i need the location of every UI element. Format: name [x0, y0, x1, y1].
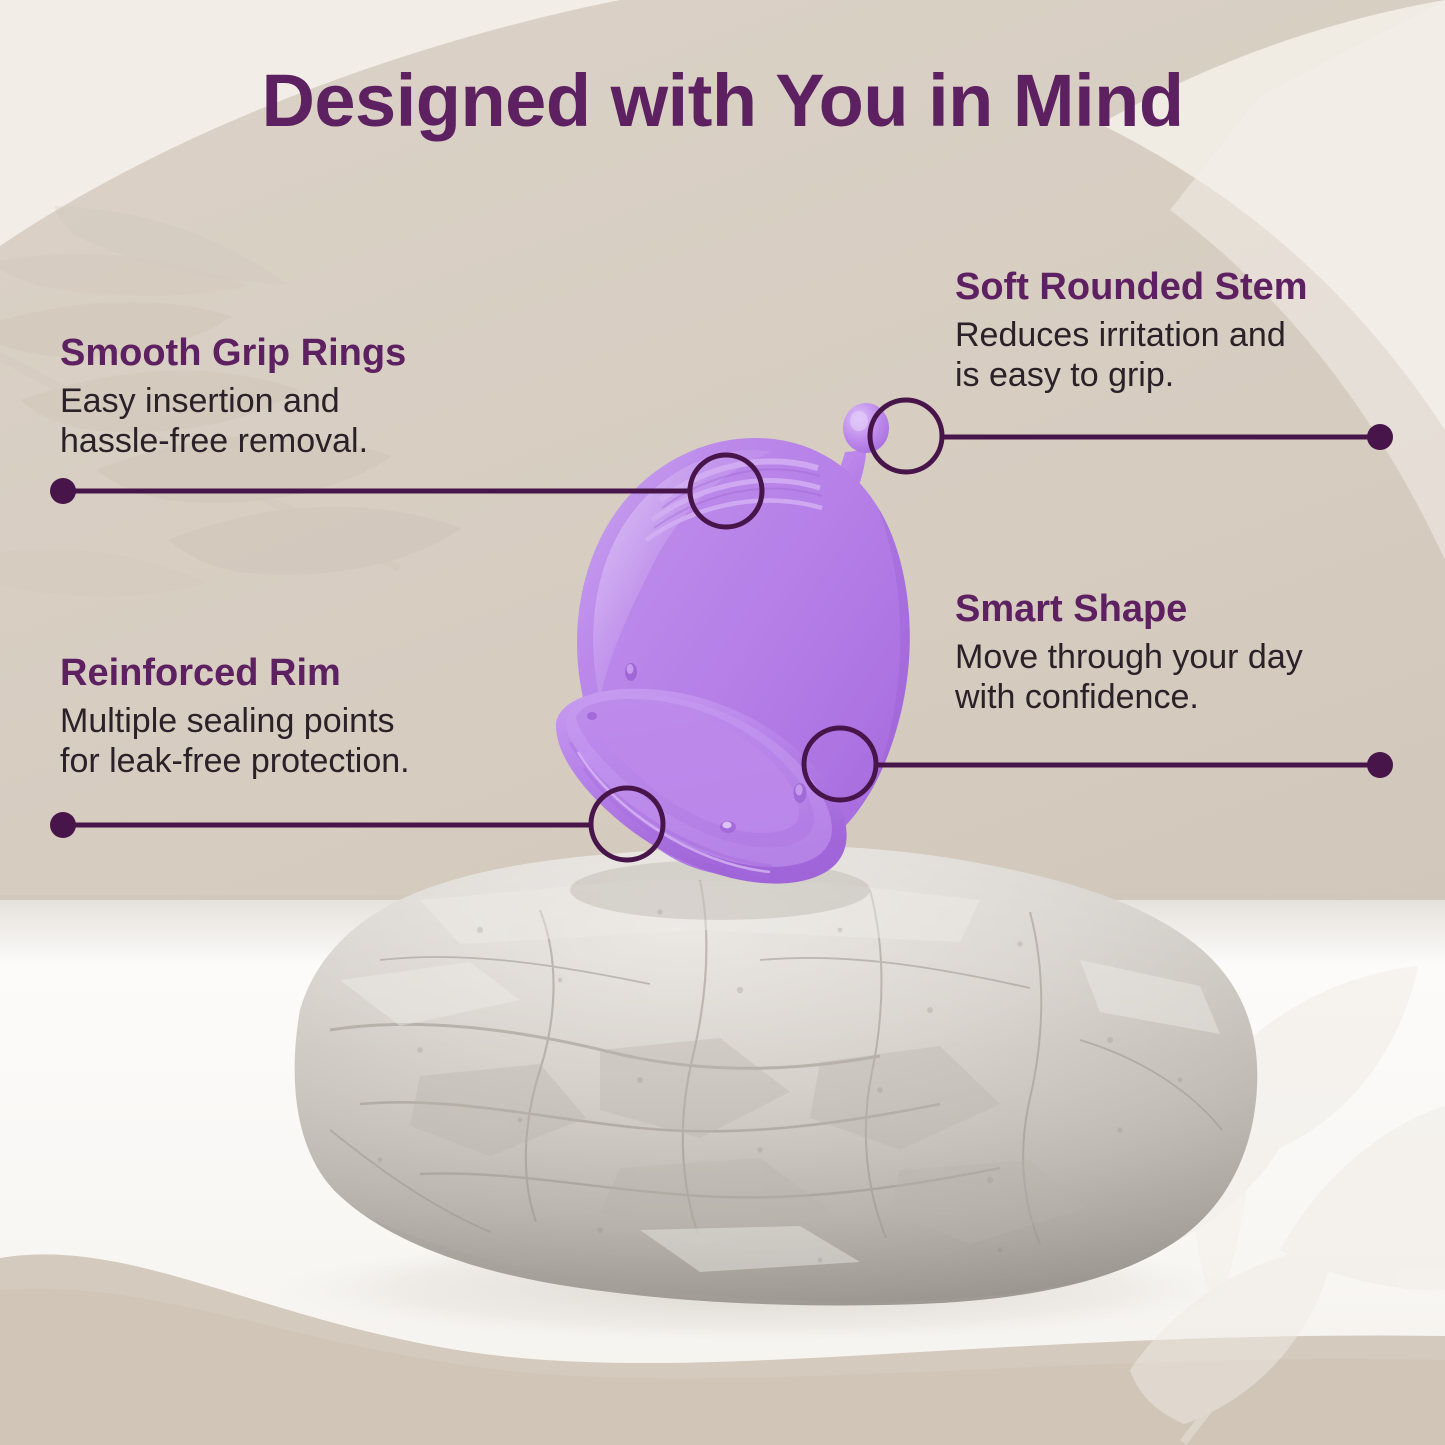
callout-body-soft-rounded-stem: Reduces irritation and is easy to grip. — [955, 315, 1308, 397]
callout-body-reinforced-rim: Multiple sealing points for leak-free pr… — [60, 701, 410, 783]
callout-soft-rounded-stem: Soft Rounded Stem Reduces irritation and… — [955, 266, 1308, 396]
callout-smart-shape: Smart Shape Move through your day with c… — [955, 588, 1303, 718]
menstrual-cup-product — [556, 403, 930, 900]
callout-heading-smooth-grip-rings: Smooth Grip Rings — [60, 332, 406, 375]
page-title: Designed with You in Mind — [0, 62, 1445, 140]
callout-heading-smart-shape: Smart Shape — [955, 588, 1303, 631]
infographic-canvas: Designed with You in Mind Smooth Grip Ri… — [0, 0, 1445, 1445]
callout-heading-reinforced-rim: Reinforced Rim — [60, 652, 410, 695]
callout-reinforced-rim: Reinforced Rim Multiple sealing points f… — [60, 652, 410, 782]
callout-smooth-grip-rings: Smooth Grip Rings Easy insertion and has… — [60, 332, 406, 462]
callout-heading-soft-rounded-stem: Soft Rounded Stem — [955, 266, 1308, 309]
callout-body-smooth-grip-rings: Easy insertion and hassle-free removal. — [60, 381, 406, 463]
cup-stem-knob — [843, 403, 889, 453]
callout-body-smart-shape: Move through your day with confidence. — [955, 637, 1303, 719]
